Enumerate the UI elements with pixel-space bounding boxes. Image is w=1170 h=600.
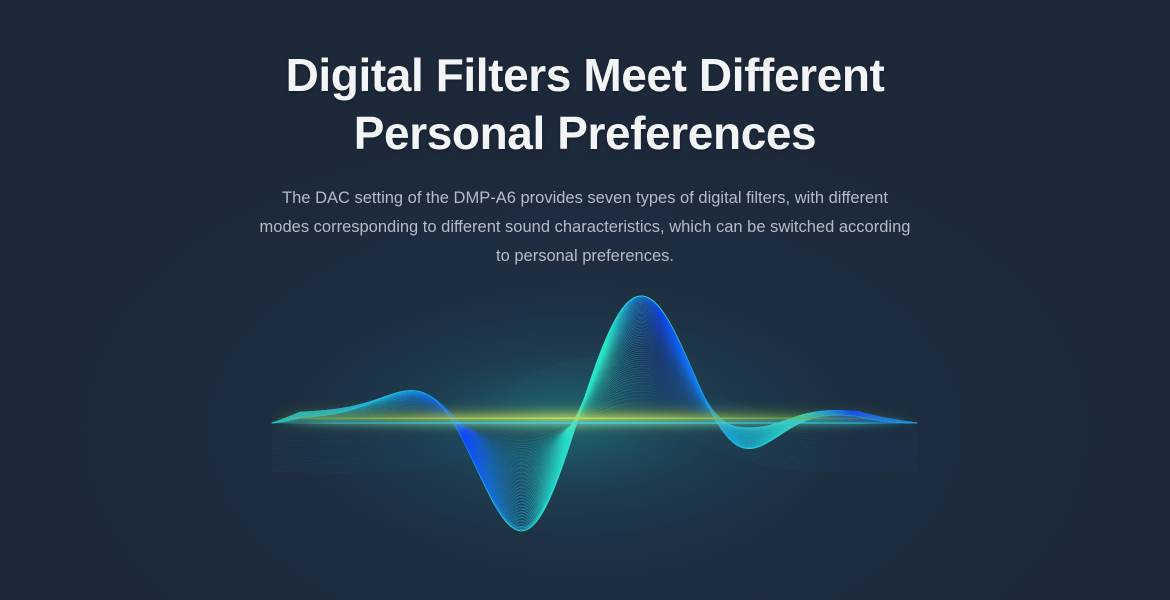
waveform-curve [272, 337, 917, 482]
waveform-curve [272, 302, 917, 522]
waveform-ghost-curve [272, 410, 918, 473]
waveform-curve [272, 305, 917, 519]
waveform-baseline-group [272, 414, 918, 425]
waveform-curve-highlight [272, 301, 917, 527]
waveform-curve [272, 325, 917, 493]
waveform-curve [272, 349, 917, 472]
waveform-curve [272, 403, 917, 441]
waveform-curve [272, 329, 917, 489]
waveform-curve [272, 296, 917, 531]
waveform-curve [272, 298, 917, 528]
waveform-ghost-curve [272, 405, 918, 468]
waveform-curve [272, 370, 917, 459]
waveform-curve-highlight [272, 296, 917, 531]
waveform-curve [272, 316, 917, 504]
waveform-ghost-curve [272, 376, 918, 439]
waveform-curve [272, 328, 917, 491]
waveform-curve [272, 312, 917, 508]
waveform-curve [272, 317, 917, 502]
waveform-curve [272, 314, 917, 507]
page-subtitle: The DAC setting of the DMP-A6 provides s… [190, 184, 980, 271]
waveform-curve-highlight [272, 298, 917, 530]
waveform-curve [272, 372, 917, 458]
waveform-center-glow [260, 293, 860, 553]
waveform-curve [272, 340, 917, 479]
waveform-curve [272, 307, 917, 516]
baseline-glow-wide [272, 414, 918, 423]
waveform-curve [272, 332, 917, 486]
waveform-curve [272, 324, 917, 495]
waveform-ghost-curve [272, 357, 918, 420]
waveform-curve [272, 344, 917, 477]
waveform-curve [272, 385, 917, 451]
waveform-ghost-curve [272, 378, 918, 441]
waveform-curve [272, 388, 917, 449]
waveform-ghost-curve [272, 407, 918, 470]
subtitle-line-2: modes corresponding to different sound c… [190, 213, 980, 242]
baseline-line [272, 422, 918, 423]
hero-banner: Digital Filters Meet Different Personal … [0, 0, 1170, 600]
waveform-curve [272, 310, 917, 511]
waveform-ghost-curve [272, 384, 918, 447]
page-title: Digital Filters Meet Different Personal … [0, 46, 1170, 162]
waveform-curve [272, 346, 917, 476]
waveform-curve [272, 357, 917, 467]
waveform-curve [272, 299, 917, 526]
waveform-ghost-curve [272, 393, 918, 456]
waveform-ghost-curve [272, 382, 918, 445]
waveform-ghost-curve [272, 386, 918, 449]
waveform-curve [272, 334, 917, 485]
waveform-curve [272, 398, 917, 444]
waveform-curve [272, 300, 917, 525]
waveform-curve [272, 322, 917, 496]
waveform-curve [272, 368, 917, 461]
waveform-curve [272, 366, 917, 463]
waveform-curve [272, 383, 917, 453]
waveform-ghost-curve [272, 365, 918, 428]
waveform-curve [272, 301, 917, 523]
waveform-ghost-curve [272, 370, 918, 433]
waveform-curve [272, 375, 917, 457]
waveform-curve [272, 327, 917, 492]
waveform-curve [272, 359, 917, 466]
hero-text-block: Digital Filters Meet Different Personal … [0, 0, 1170, 271]
waveform-curve [272, 297, 917, 529]
waveform-ghost-curve [272, 399, 918, 462]
waveform-curve [272, 321, 917, 498]
waveform-ghost-curve [272, 368, 918, 431]
waveform-ghost-curve [272, 401, 918, 464]
waveform-curve [272, 309, 917, 513]
waveform-ghost-curve [272, 403, 918, 466]
waveform-ghost-curve [272, 359, 918, 422]
waveform-curve [272, 303, 917, 520]
subtitle-line-1: The DAC setting of the DMP-A6 provides s… [190, 184, 980, 213]
waveform-curve [272, 361, 917, 465]
waveform-curve [272, 306, 917, 518]
waveform-ghost-curve [272, 389, 918, 452]
waveform-curve [272, 353, 917, 470]
baseline-glow-core [272, 418, 918, 420]
subtitle-line-3: to personal preferences. [190, 242, 980, 271]
waveform-curve [272, 380, 917, 454]
waveform-curve [272, 339, 917, 481]
title-line-1: Digital Filters Meet Different [0, 46, 1170, 104]
waveform-ghost-curve [272, 391, 918, 454]
waveform-curve [272, 342, 917, 478]
waveform-curve [272, 315, 917, 505]
waveform-ghost-curve [272, 374, 918, 437]
waveform-ghost-curve [272, 363, 918, 426]
waveform-curve [272, 320, 917, 500]
waveform-curve [272, 331, 917, 488]
waveform-curve-highlight [272, 299, 917, 528]
waveform-curve [272, 377, 917, 455]
waveform-ghost-curve [272, 395, 918, 458]
baseline-line-glow [272, 422, 918, 425]
waveform-ghost-curve [272, 380, 918, 443]
waveform-curve [272, 394, 917, 445]
waveform-ghost-curve [272, 372, 918, 435]
waveform-curve [272, 347, 917, 474]
waveform-curve [272, 311, 917, 510]
waveform-curve [272, 391, 917, 447]
waveform-ghost-curve [272, 361, 918, 424]
waveform-curve [272, 363, 917, 463]
title-line-2: Personal Preferences [0, 104, 1170, 162]
waveform-curve [272, 335, 917, 483]
waveform-curve [272, 355, 917, 469]
baseline-glow-soft [272, 416, 918, 420]
waveform-curve [272, 308, 917, 514]
waveform-curve [272, 319, 917, 501]
waveform-curve [272, 351, 917, 471]
waveform-curve-stack [272, 296, 918, 531]
waveform-ghost-curve [272, 397, 918, 460]
